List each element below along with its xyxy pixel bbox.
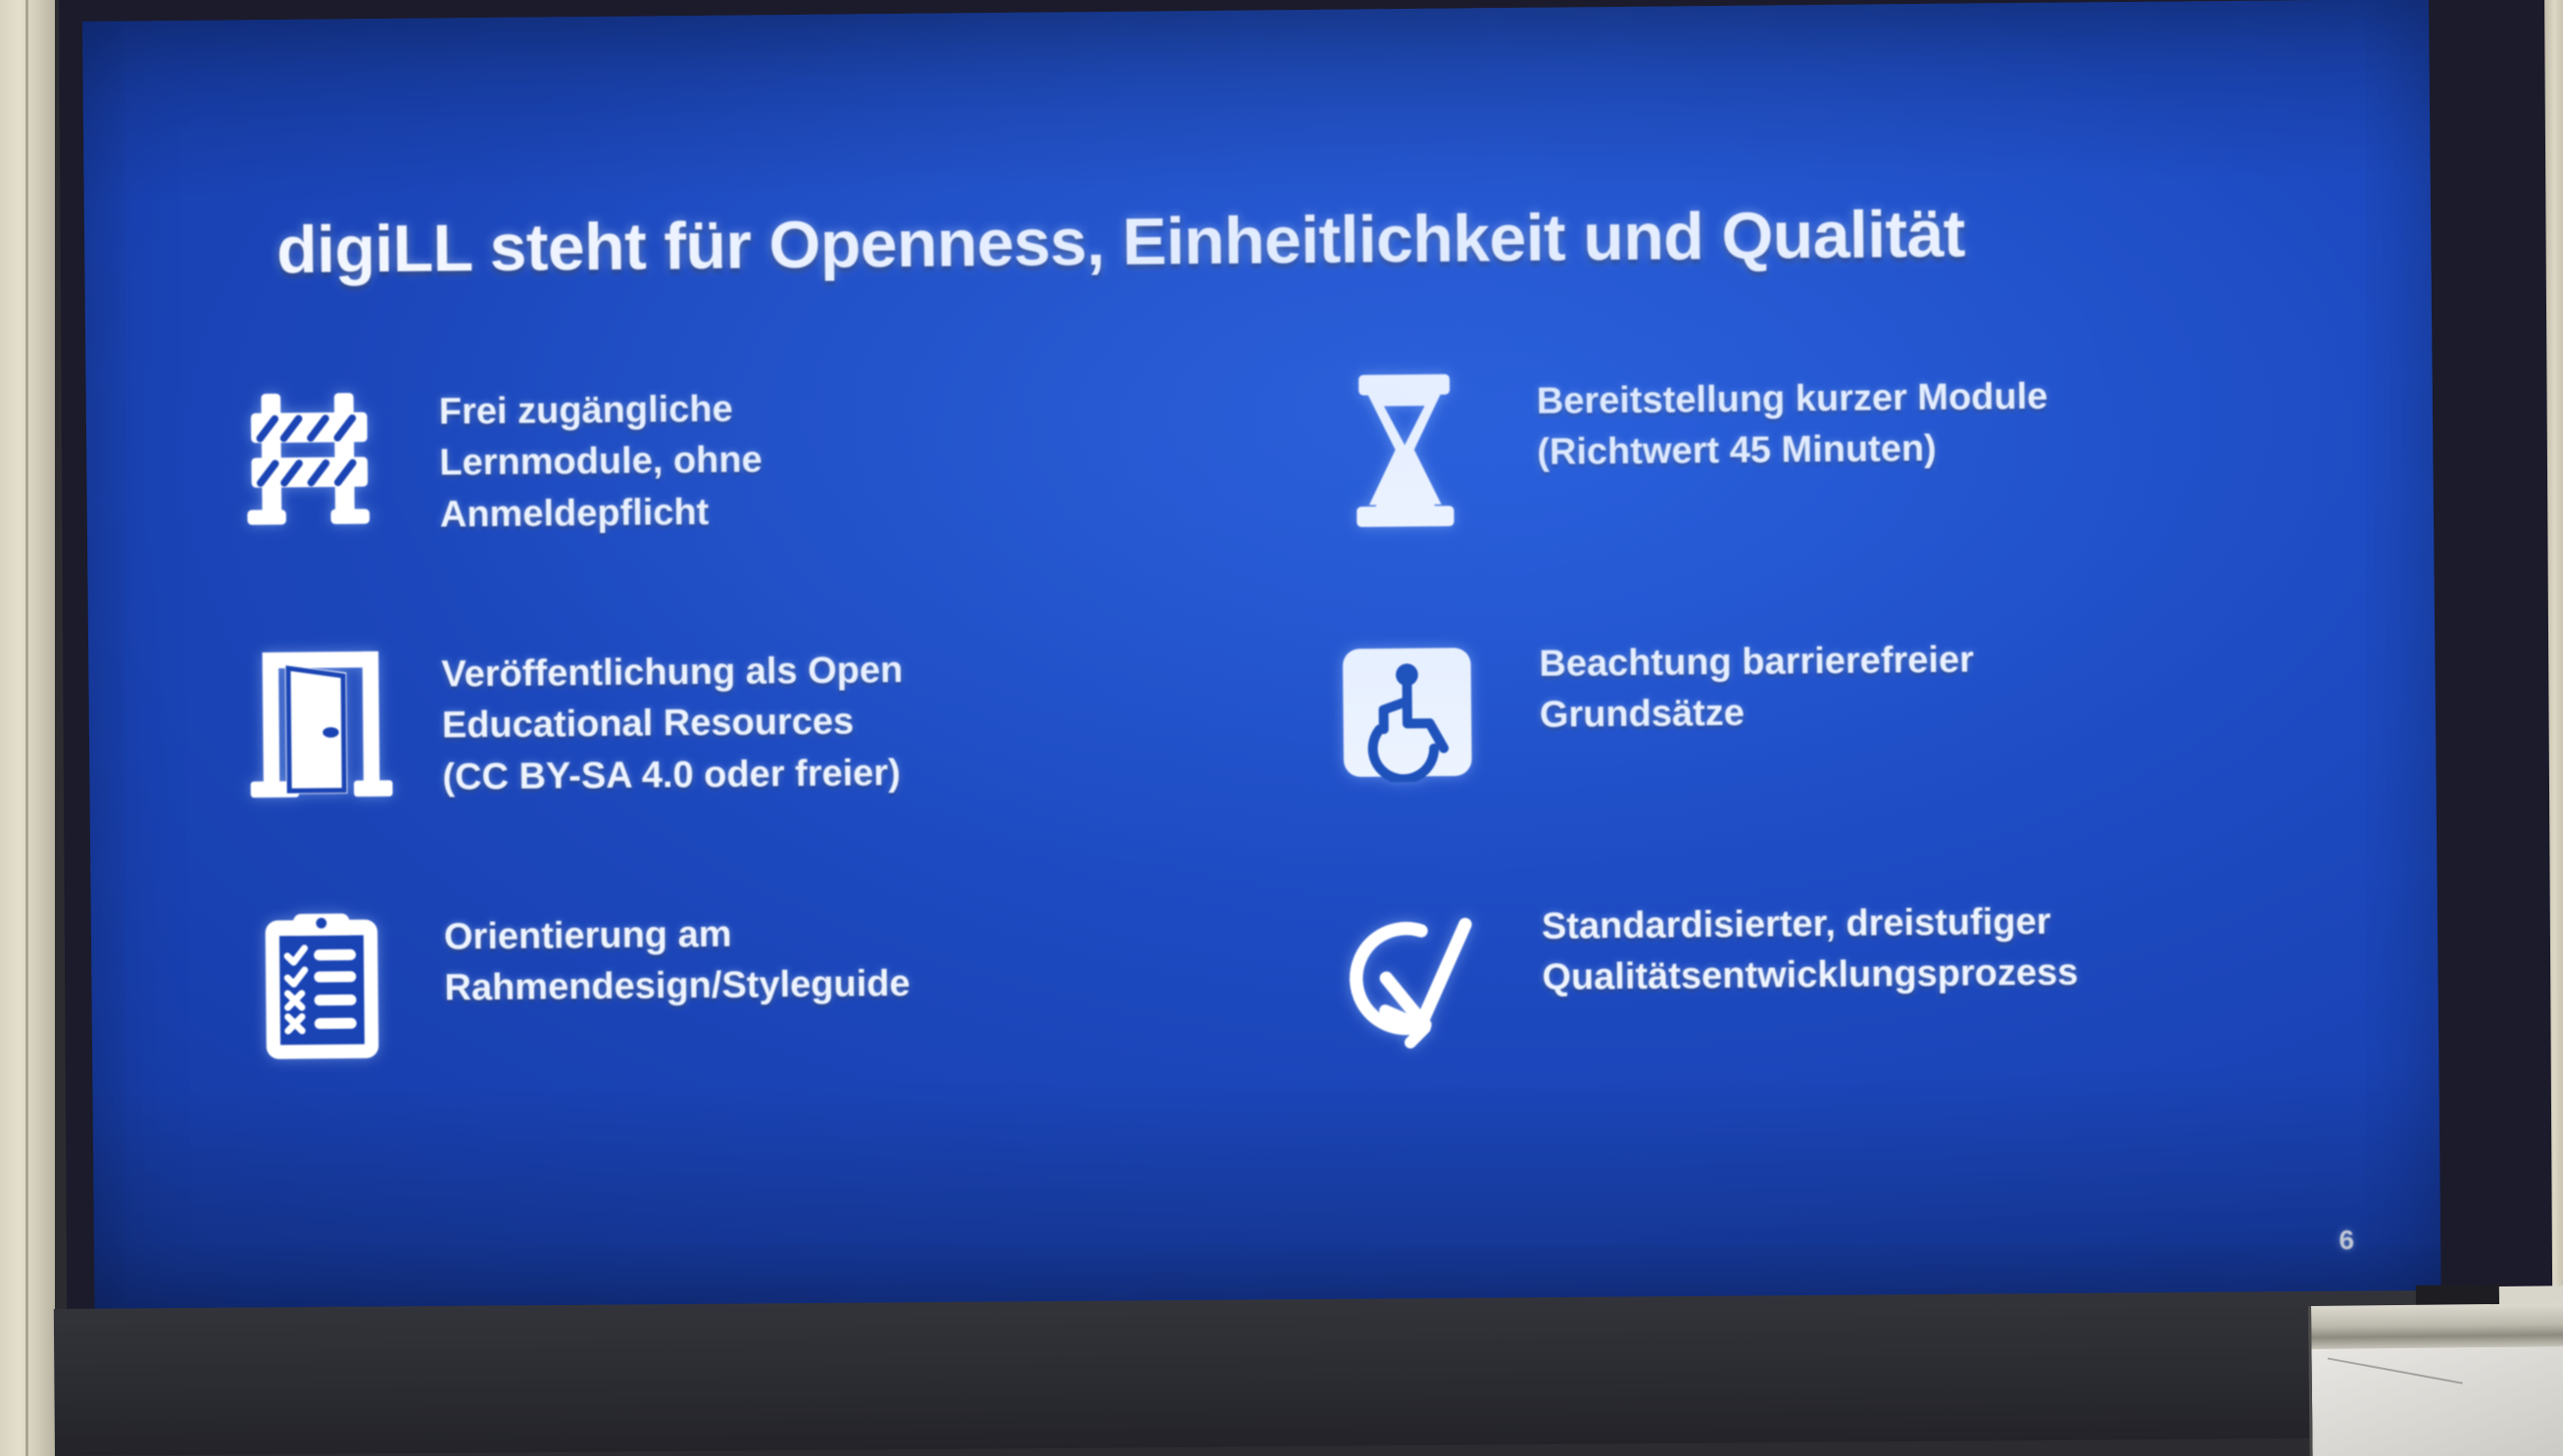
feature-item-veroeffentlichung-oer: Veröffentlichung als Open Educational Re… bbox=[235, 626, 1257, 898]
barrier-icon bbox=[232, 371, 401, 550]
flipchart-rail bbox=[2308, 1303, 2563, 1351]
feature-line: Beachtung barrierefreier bbox=[1539, 635, 1974, 691]
feature-line: Qualitätsentwicklungsprozess bbox=[1542, 947, 2078, 1004]
feature-line: Veröffentlichung als Open bbox=[441, 645, 903, 701]
room-floor bbox=[54, 1289, 2544, 1456]
clipboard-checklist-icon bbox=[238, 897, 407, 1075]
presentation-slide: digiLL steht für Openness, Einheitlichke… bbox=[82, 0, 2441, 1321]
feature-item-text: Veröffentlichung als Open Educational Re… bbox=[441, 629, 904, 803]
feature-item-barrierefreiheit: Beachtung barrierefreier Grundsätze bbox=[1313, 615, 2336, 888]
feature-item-text: Frei zugängliche Lernmodule, ohne Anmeld… bbox=[438, 367, 763, 540]
feature-line: Grundsätze bbox=[1540, 686, 1975, 742]
feature-line: Orientierung am bbox=[444, 907, 911, 963]
feature-line: Rahmendesign/Styleguide bbox=[444, 958, 911, 1014]
wall-seam bbox=[25, 0, 28, 1456]
page-title: digiLL steht für Openness, Einheitlichke… bbox=[276, 196, 1965, 289]
feature-line: Bereitstellung kurzer Module bbox=[1537, 371, 2048, 427]
room-photo: digiLL steht für Openness, Einheitlichke… bbox=[0, 0, 2563, 1456]
wall-left bbox=[0, 0, 55, 1456]
feature-line: Lernmodule, ohne bbox=[439, 435, 763, 490]
feature-item-frei-zugaengliche-lernmodule: Frei zugängliche Lernmodule, ohne Anmeld… bbox=[232, 364, 1255, 636]
slide-page-number: 6 bbox=[2339, 1225, 2354, 1256]
feature-line: Anmeldepflicht bbox=[440, 486, 764, 541]
feature-item-text: Orientierung am Rahmendesign/Styleguide bbox=[444, 892, 911, 1014]
cycle-check-icon bbox=[1316, 886, 1504, 1064]
feature-line: (CC BY-SA 4.0 oder freier) bbox=[442, 748, 904, 803]
feature-item-bereitstellung-kurzer-module: Bereitstellung kurzer Module (Richtwert … bbox=[1310, 353, 2333, 625]
feature-line: Educational Resources bbox=[442, 696, 904, 752]
feature-item-text: Standardisierter, dreistufiger Qualitäts… bbox=[1542, 881, 2079, 1004]
wheelchair-accessibility-icon bbox=[1313, 623, 1502, 801]
flipchart-board bbox=[2308, 1303, 2563, 1456]
feature-grid: Frei zugängliche Lernmodule, ohne Anmeld… bbox=[232, 353, 2338, 1161]
feature-item-text: Bereitstellung kurzer Module (Richtwert … bbox=[1536, 356, 2048, 479]
feature-line: (Richtwert 45 Minuten) bbox=[1537, 422, 2048, 478]
feature-line: Frei zugängliche bbox=[439, 383, 763, 438]
hourglass-icon bbox=[1310, 361, 1499, 539]
open-door-icon bbox=[235, 634, 404, 812]
feature-item-qualitaetsentwicklungsprozess: Standardisierter, dreistufiger Qualitäts… bbox=[1316, 878, 2339, 1150]
feature-line: Standardisierter, dreistufiger bbox=[1542, 897, 2078, 953]
feature-item-text: Beachtung barrierefreier Grundsätze bbox=[1539, 619, 1975, 742]
feature-item-rahmendesign-styleguide: Orientierung am Rahmendesign/Styleguide bbox=[238, 889, 1260, 1161]
